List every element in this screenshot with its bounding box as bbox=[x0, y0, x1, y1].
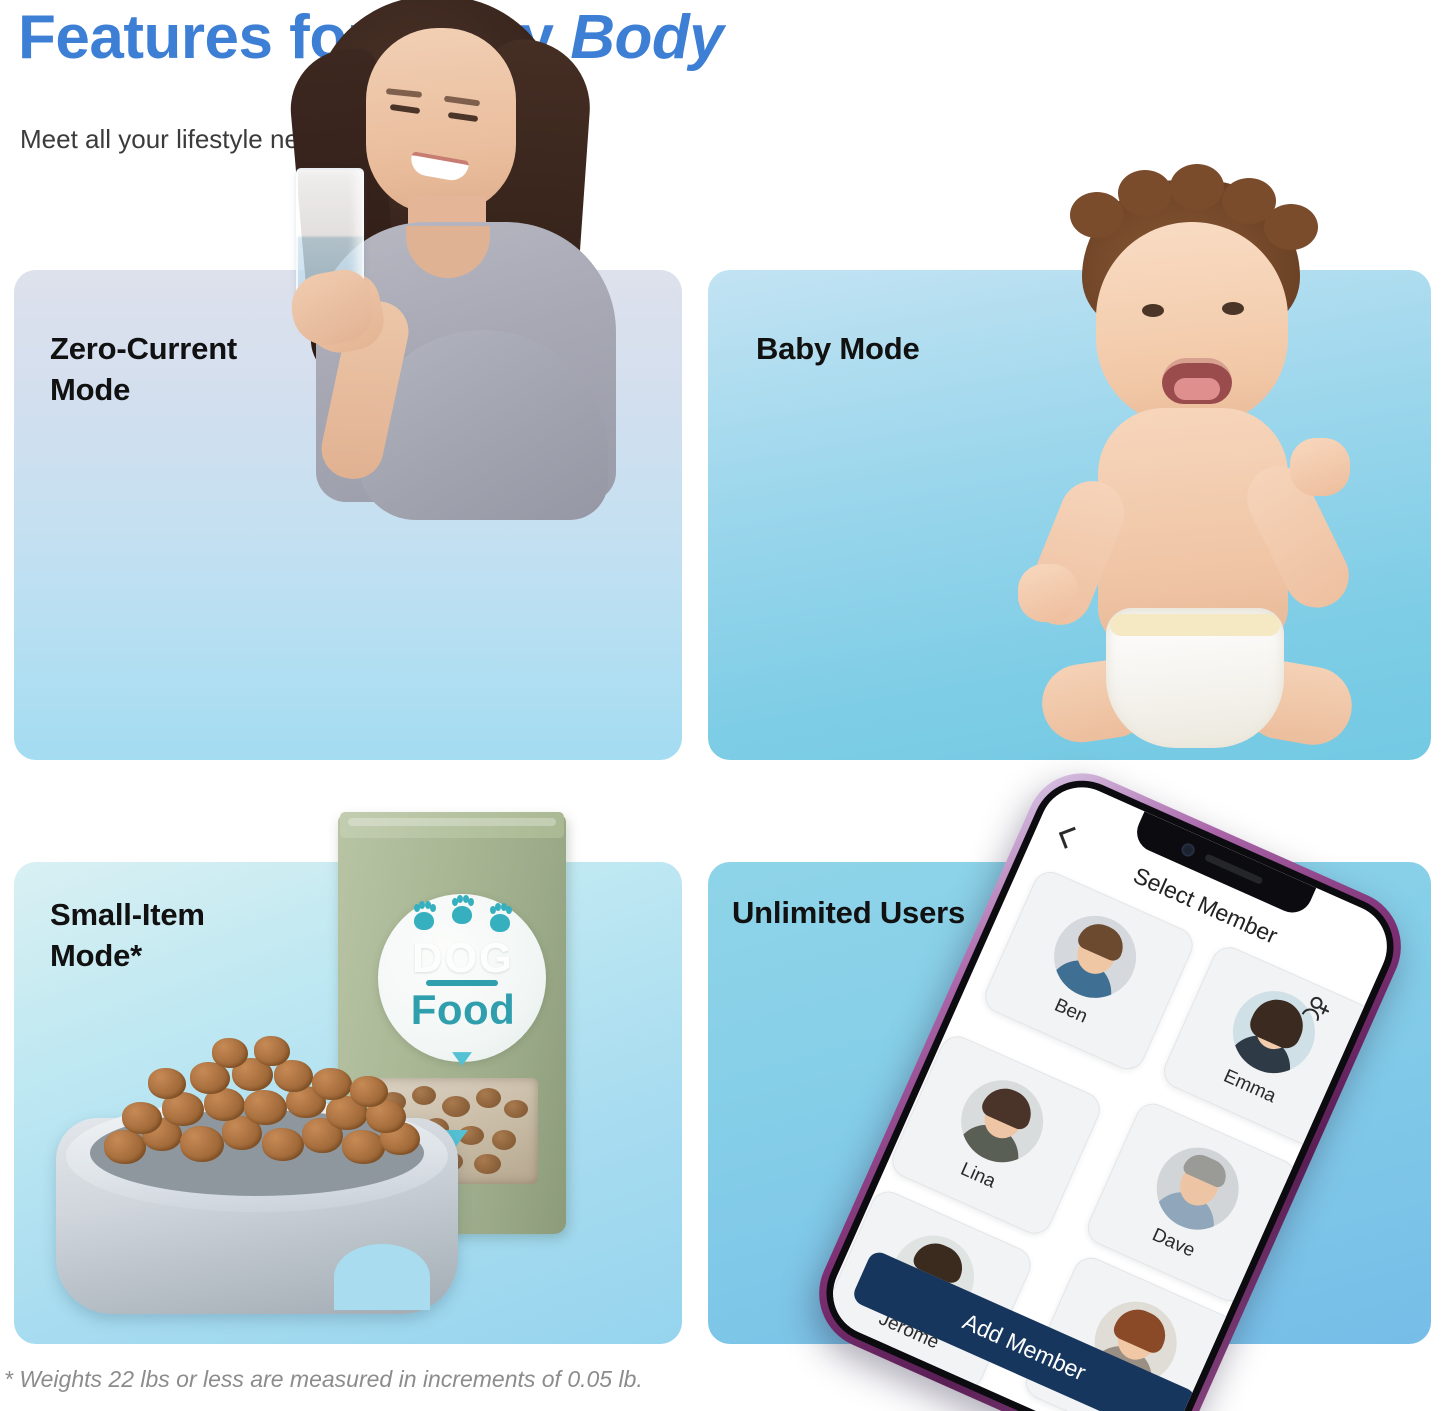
paw-print-icon bbox=[490, 914, 510, 932]
bag-brand-bottom: Food bbox=[384, 986, 542, 1034]
feature-card-label: Unlimited Users bbox=[732, 892, 965, 933]
diaper-waistband bbox=[1110, 614, 1280, 636]
bag-brand-top: DOG bbox=[384, 934, 542, 982]
member-name: Lina bbox=[957, 1159, 999, 1194]
paw-print-icon bbox=[414, 912, 434, 930]
hair-curl bbox=[1118, 170, 1172, 216]
bowl-notch bbox=[334, 1244, 430, 1310]
feature-card-label: Baby Mode bbox=[756, 328, 920, 369]
smartphone: Select Member B bbox=[801, 755, 1419, 1411]
face bbox=[366, 28, 516, 214]
member-name: Ben bbox=[1051, 995, 1091, 1029]
pregnant-woman-image bbox=[238, 0, 668, 492]
hair-curl bbox=[1264, 204, 1318, 250]
baby-image bbox=[1010, 178, 1370, 760]
kibble-pile bbox=[94, 1056, 424, 1206]
fist-right bbox=[1290, 438, 1350, 496]
eye-right bbox=[1222, 302, 1244, 315]
bag-fold bbox=[348, 818, 556, 826]
avatar bbox=[1041, 903, 1149, 1011]
hair-curl bbox=[1170, 164, 1224, 210]
eye-left bbox=[1142, 304, 1164, 317]
phone-image: Select Member B bbox=[760, 800, 1440, 1360]
footnote: * Weights 22 lbs or less are measured in… bbox=[4, 1366, 643, 1393]
paw-print-icon bbox=[452, 906, 472, 924]
front-camera-icon bbox=[1179, 841, 1196, 858]
fist-left bbox=[1018, 564, 1078, 622]
feature-card-label: Small-Item Mode* bbox=[50, 894, 205, 976]
feature-page: Features for Every Body Meet all your li… bbox=[0, 0, 1445, 1411]
hair-curl bbox=[1070, 192, 1124, 238]
feature-card-label: Zero-Current Mode bbox=[50, 328, 237, 410]
tongue bbox=[1174, 378, 1220, 400]
dog-food-image: DOG Food bbox=[48, 806, 618, 1336]
dog-bowl bbox=[48, 1056, 468, 1324]
